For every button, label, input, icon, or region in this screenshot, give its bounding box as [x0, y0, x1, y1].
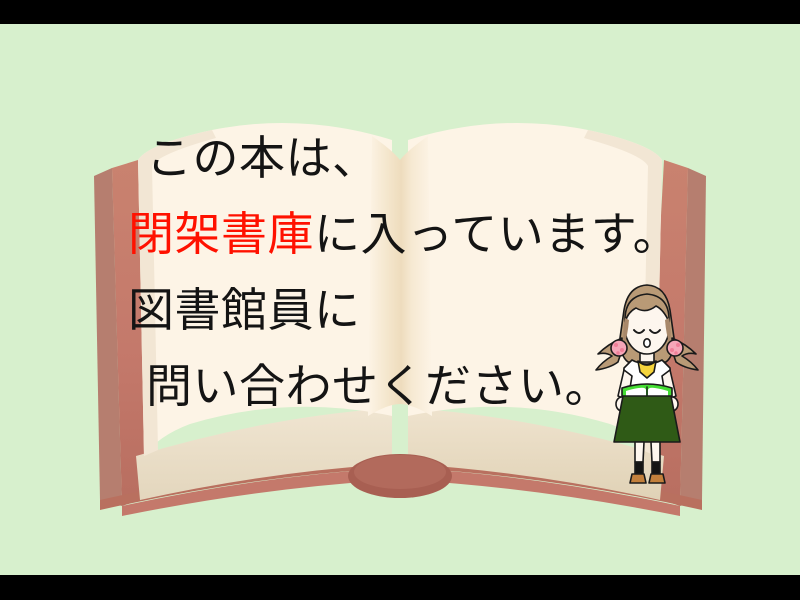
- shoe-right: [649, 474, 665, 483]
- leg-right: [651, 442, 660, 462]
- mouth: [644, 339, 650, 347]
- notice-line-2-rest: に入っています。: [314, 207, 679, 261]
- leg-left: [635, 442, 644, 462]
- sock-right: [652, 462, 660, 474]
- letterbox-top: [0, 0, 800, 24]
- slide-stage: この本は、 閉架書庫に入っています。 図書館員に 問い合わせください。: [0, 0, 800, 600]
- notice-line-1-text: この本は、: [146, 131, 379, 185]
- sock-left: [635, 462, 643, 474]
- notice-highlight-closed-stacks: 閉架書庫: [128, 207, 314, 261]
- hairtie-right: [667, 340, 683, 356]
- skirt: [614, 396, 680, 442]
- shoe-left: [630, 474, 646, 483]
- notice-line-2: 閉架書庫に入っています。: [128, 196, 684, 272]
- letterbox-bottom: [0, 575, 800, 600]
- notice-line-1: この本は、: [128, 120, 684, 196]
- slide-canvas: この本は、 閉架書庫に入っています。 図書館員に 問い合わせください。: [0, 24, 800, 575]
- notice-line-4-text: 問い合わせください。: [146, 359, 611, 413]
- librarian-girl-illustration: [588, 276, 706, 488]
- hairtie-left: [611, 340, 627, 356]
- book-spine-knot: [348, 454, 452, 498]
- notice-line-3-text: 図書館員に: [128, 283, 361, 337]
